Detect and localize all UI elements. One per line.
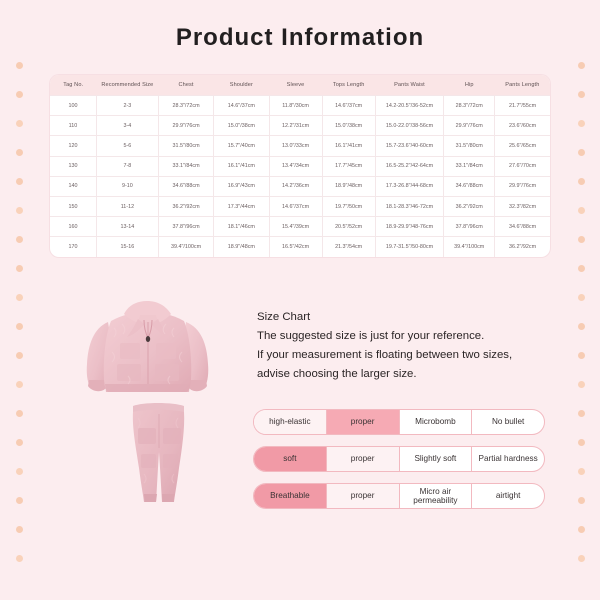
decorative-dot — [16, 439, 23, 446]
decorative-dot — [578, 149, 585, 156]
table-cell: 13.4"/34cm — [269, 156, 322, 176]
table-cell: 16.5"/42cm — [269, 237, 322, 257]
table-cell: 21.7"/55cm — [495, 96, 550, 116]
scale-segment-partial-hardness[interactable]: Partial hardness — [472, 447, 544, 471]
table-cell: 13.0"/33cm — [269, 136, 322, 156]
table-cell: 18.9"/48cm — [214, 237, 269, 257]
table-header-row: Tag No. Recommended Size Chest Shoulder … — [50, 75, 550, 96]
size-table: Tag No. Recommended Size Chest Shoulder … — [50, 75, 550, 257]
table-cell: 12.2"/31cm — [269, 116, 322, 136]
decorative-dot — [578, 381, 585, 388]
table-cell: 14.6"/37cm — [322, 96, 375, 116]
scale-elasticity: high-elastic proper Microbomb No bullet — [253, 409, 545, 435]
decorative-dot — [16, 178, 23, 185]
table-cell: 28.3"/72cm — [158, 96, 213, 116]
table-header-cell: Tag No. — [50, 75, 96, 96]
table-cell: 7-8 — [96, 156, 158, 176]
table-cell: 120 — [50, 136, 96, 156]
scale-segment-breathable[interactable]: Breathable — [254, 484, 327, 508]
table-cell: 16.5-25.2"/42-64cm — [375, 156, 444, 176]
table-cell: 32.3"/82cm — [495, 196, 550, 216]
table-cell: 13-14 — [96, 217, 158, 237]
table-cell: 15.7"/40cm — [214, 136, 269, 156]
table-cell: 14.2"/36cm — [269, 176, 322, 196]
table-cell: 5-6 — [96, 136, 158, 156]
decorative-dot — [578, 62, 585, 69]
scale-segment-proper[interactable]: proper — [327, 410, 400, 434]
table-header-cell: Recommended Size — [96, 75, 158, 96]
decorative-dot — [16, 381, 23, 388]
table-header-cell: Hip — [444, 75, 495, 96]
page-title: Product Information — [0, 24, 600, 52]
table-cell: 2-3 — [96, 96, 158, 116]
table-cell: 18.1"/46cm — [214, 217, 269, 237]
table-cell: 21.3"/54cm — [322, 237, 375, 257]
decorative-dot — [578, 526, 585, 533]
table-cell: 16.1"/41cm — [322, 136, 375, 156]
table-cell: 14.2-20.5"/36-52cm — [375, 96, 444, 116]
decorative-dot — [16, 91, 23, 98]
scale-segment-slightly-soft[interactable]: Slightly soft — [400, 447, 473, 471]
table-cell: 33.1"/84cm — [444, 156, 495, 176]
size-chart-heading: Size Chart — [257, 308, 557, 327]
table-cell: 36.2"/92cm — [495, 237, 550, 257]
table-cell: 17.7"/45cm — [322, 156, 375, 176]
decorative-dot — [16, 526, 23, 533]
decorative-dot — [578, 294, 585, 301]
decorative-dot — [16, 294, 23, 301]
size-table-container: Tag No. Recommended Size Chest Shoulder … — [50, 75, 550, 257]
decorative-dot — [16, 149, 23, 156]
decorative-dot — [578, 265, 585, 272]
scale-segment-proper[interactable]: proper — [327, 447, 400, 471]
table-cell: 16.9"/43cm — [214, 176, 269, 196]
decorative-dot-rail-right — [574, 62, 588, 562]
table-cell: 14.6"/37cm — [269, 196, 322, 216]
table-cell: 100 — [50, 96, 96, 116]
decorative-dot — [578, 236, 585, 243]
scale-segment-soft[interactable]: soft — [254, 447, 327, 471]
table-cell: 170 — [50, 237, 96, 257]
table-row: 120 5-6 31.5"/80cm 15.7"/40cm 13.0"/33cm… — [50, 136, 550, 156]
table-cell: 29.9"/76cm — [444, 116, 495, 136]
table-cell: 28.3"/72cm — [444, 96, 495, 116]
table-cell: 18.9"/48cm — [322, 176, 375, 196]
table-cell: 33.1"/84cm — [158, 156, 213, 176]
table-cell: 3-4 — [96, 116, 158, 136]
table-cell: 15.0-22.0"/38-56cm — [375, 116, 444, 136]
decorative-dot-rail-left — [12, 62, 26, 562]
decorative-dot — [578, 323, 585, 330]
table-cell: 18.9-29.9"/48-76cm — [375, 217, 444, 237]
decorative-dot — [16, 352, 23, 359]
decorative-dot — [16, 207, 23, 214]
table-header-cell: Chest — [158, 75, 213, 96]
decorative-dot — [16, 120, 23, 127]
table-cell: 19.7"/50cm — [322, 196, 375, 216]
table-cell: 23.6"/60cm — [495, 116, 550, 136]
table-cell: 25.6"/65cm — [495, 136, 550, 156]
table-cell: 29.9"/76cm — [495, 176, 550, 196]
table-cell: 31.5"/80cm — [158, 136, 213, 156]
decorative-dot — [578, 410, 585, 417]
table-row: 170 15-16 39.4"/100cm 18.9"/48cm 16.5"/4… — [50, 237, 550, 257]
table-cell: 11.8"/30cm — [269, 96, 322, 116]
decorative-dot — [578, 497, 585, 504]
table-cell: 37.8"/96cm — [444, 217, 495, 237]
table-cell: 11-12 — [96, 196, 158, 216]
table-cell: 34.6"/88cm — [495, 217, 550, 237]
decorative-dot — [16, 468, 23, 475]
decorative-dot — [578, 555, 585, 562]
table-cell: 17.3"/44cm — [214, 196, 269, 216]
size-chart-line-3: advise choosing the larger size. — [257, 365, 557, 384]
table-cell: 34.6"/88cm — [158, 176, 213, 196]
table-row: 110 3-4 29.9"/76cm 15.0"/38cm 12.2"/31cm… — [50, 116, 550, 136]
scale-breathability: Breathable proper Micro air permeability… — [253, 483, 545, 509]
table-header-cell: Pants Length — [495, 75, 550, 96]
table-cell: 15.4"/39cm — [269, 217, 322, 237]
decorative-dot — [578, 439, 585, 446]
decorative-dot — [16, 410, 23, 417]
table-cell: 19.7-31.5"/50-80cm — [375, 237, 444, 257]
decorative-dot — [578, 91, 585, 98]
table-cell: 27.6"/70cm — [495, 156, 550, 176]
table-cell: 160 — [50, 217, 96, 237]
table-row: 160 13-14 37.8"/96cm 18.1"/46cm 15.4"/39… — [50, 217, 550, 237]
decorative-dot — [16, 236, 23, 243]
table-cell: 150 — [50, 196, 96, 216]
table-header-cell: Sleeve — [269, 75, 322, 96]
table-cell: 39.4"/100cm — [158, 237, 213, 257]
table-cell: 110 — [50, 116, 96, 136]
table-cell: 31.5"/80cm — [444, 136, 495, 156]
decorative-dot — [578, 120, 585, 127]
scale-segment-proper[interactable]: proper — [327, 484, 400, 508]
decorative-dot — [578, 207, 585, 214]
size-chart-note: Size Chart The suggested size is just fo… — [257, 308, 557, 384]
table-cell: 20.5"/52cm — [322, 217, 375, 237]
size-chart-line-1: The suggested size is just for your refe… — [257, 327, 557, 346]
scale-softness: soft proper Slightly soft Partial hardne… — [253, 446, 545, 472]
table-cell: 39.4"/100cm — [444, 237, 495, 257]
table-cell: 9-10 — [96, 176, 158, 196]
scale-segment-high-elastic[interactable]: high-elastic — [254, 410, 327, 434]
table-row: 150 11-12 36.2"/92cm 17.3"/44cm 14.6"/37… — [50, 196, 550, 216]
table-row: 100 2-3 28.3"/72cm 14.6"/37cm 11.8"/30cm… — [50, 96, 550, 116]
decorative-dot — [16, 555, 23, 562]
table-cell: 15.0"/38cm — [322, 116, 375, 136]
table-cell: 29.9"/76cm — [158, 116, 213, 136]
decorative-dot — [578, 352, 585, 359]
table-cell: 36.2"/92cm — [444, 196, 495, 216]
table-cell: 14.6"/37cm — [214, 96, 269, 116]
size-chart-line-2: If your measurement is floating between … — [257, 346, 557, 365]
table-cell: 37.8"/96cm — [158, 217, 213, 237]
product-image — [78, 288, 238, 513]
table-row: 140 9-10 34.6"/88cm 16.9"/43cm 14.2"/36c… — [50, 176, 550, 196]
decorative-dot — [578, 468, 585, 475]
table-cell: 17.3-26.8"/44-68cm — [375, 176, 444, 196]
table-header-cell: Shoulder — [214, 75, 269, 96]
decorative-dot — [16, 497, 23, 504]
decorative-dot — [578, 178, 585, 185]
table-cell: 34.6"/88cm — [444, 176, 495, 196]
table-cell: 130 — [50, 156, 96, 176]
table-cell: 15.7-23.6"/40-60cm — [375, 136, 444, 156]
table-cell: 15.0"/38cm — [214, 116, 269, 136]
scale-segment-microbomb[interactable]: Microbomb — [400, 410, 473, 434]
table-header-cell: Tops Length — [322, 75, 375, 96]
scale-segment-micro-air-permeability[interactable]: Micro air permeability — [400, 484, 473, 508]
table-row: 130 7-8 33.1"/84cm 16.1"/41cm 13.4"/34cm… — [50, 156, 550, 176]
table-cell: 18.1-28.3"/46-72cm — [375, 196, 444, 216]
table-header-cell: Pants Waist — [375, 75, 444, 96]
decorative-dot — [16, 265, 23, 272]
scale-segment-airtight[interactable]: airtight — [472, 484, 544, 508]
table-cell: 36.2"/92cm — [158, 196, 213, 216]
decorative-dot — [16, 62, 23, 69]
decorative-dot — [16, 323, 23, 330]
table-cell: 140 — [50, 176, 96, 196]
scale-segment-no-bullet[interactable]: No bullet — [472, 410, 544, 434]
table-cell: 16.1"/41cm — [214, 156, 269, 176]
property-scales: high-elastic proper Microbomb No bullet … — [253, 409, 545, 509]
table-cell: 15-16 — [96, 237, 158, 257]
